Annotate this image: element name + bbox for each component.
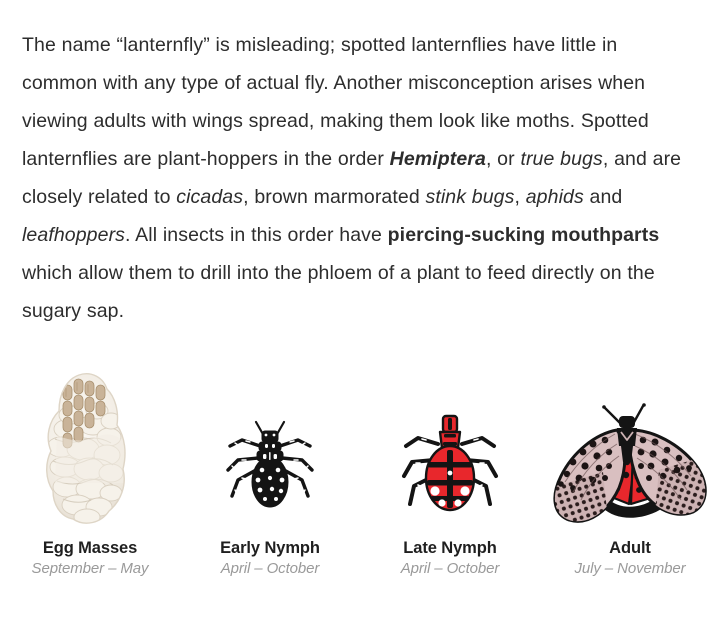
stage-season-egg-masses: September – May bbox=[32, 558, 149, 580]
lifecycle-stage-early-nymph: Early Nymph April – October bbox=[180, 340, 360, 580]
lifecycle-stage-egg-masses: Egg Masses September – May bbox=[0, 340, 180, 580]
late-nymph-illustration bbox=[398, 410, 502, 532]
stage-name-egg-masses: Egg Masses bbox=[43, 538, 137, 558]
late-nymph-illustration-container bbox=[360, 340, 540, 538]
paragraph-segment-1: Hemiptera bbox=[390, 148, 486, 170]
lifecycle-stage-late-nymph: Late Nymph April – October bbox=[360, 340, 540, 580]
egg-mass-photo bbox=[31, 367, 149, 532]
paragraph-segment-6: , brown marmorated bbox=[243, 186, 425, 208]
paragraph-segment-2: , or bbox=[486, 148, 521, 170]
stage-season-adult: July – November bbox=[574, 558, 685, 580]
paragraph-segment-11: leafhoppers bbox=[22, 224, 125, 246]
paragraph-segment-14: which allow them to drill into the phloe… bbox=[22, 262, 655, 322]
paragraph-segment-8: , bbox=[514, 186, 525, 208]
adult-left-forewing bbox=[547, 430, 625, 530]
paragraph-segment-12: . All insects in this order have bbox=[125, 224, 388, 246]
paragraph-segment-3: true bugs bbox=[520, 148, 602, 170]
adult-lanternfly-illustration-container bbox=[540, 340, 720, 538]
stage-name-late-nymph: Late Nymph bbox=[403, 538, 496, 558]
lifecycle-stages-strip: Egg Masses September – May bbox=[0, 340, 720, 580]
stage-season-early-nymph: April – October bbox=[221, 558, 320, 580]
paragraph-segment-9: aphids bbox=[526, 186, 584, 208]
paragraph-segment-5: cicadas bbox=[176, 186, 243, 208]
paragraph-segment-13: piercing-sucking mouthparts bbox=[388, 224, 660, 246]
early-nymph-illustration bbox=[222, 414, 318, 532]
paragraph-segment-7: stink bugs bbox=[425, 186, 514, 208]
article-body: The name “lanternfly” is misleading; spo… bbox=[0, 0, 720, 330]
egg-mass-body bbox=[31, 367, 149, 532]
stage-name-early-nymph: Early Nymph bbox=[220, 538, 320, 558]
stage-name-adult: Adult bbox=[609, 538, 651, 558]
stage-season-late-nymph: April – October bbox=[401, 558, 500, 580]
paragraph-segment-10: and bbox=[584, 186, 623, 208]
egg-mass-photo-container bbox=[0, 340, 180, 538]
adult-right-forewing bbox=[629, 430, 713, 532]
adult-lanternfly-illustration bbox=[547, 400, 713, 532]
paragraph-lanternfly-description: The name “lanternfly” is misleading; spo… bbox=[22, 26, 698, 330]
lifecycle-stage-adult: Adult July – November bbox=[540, 340, 720, 580]
early-nymph-illustration-container bbox=[180, 340, 360, 538]
